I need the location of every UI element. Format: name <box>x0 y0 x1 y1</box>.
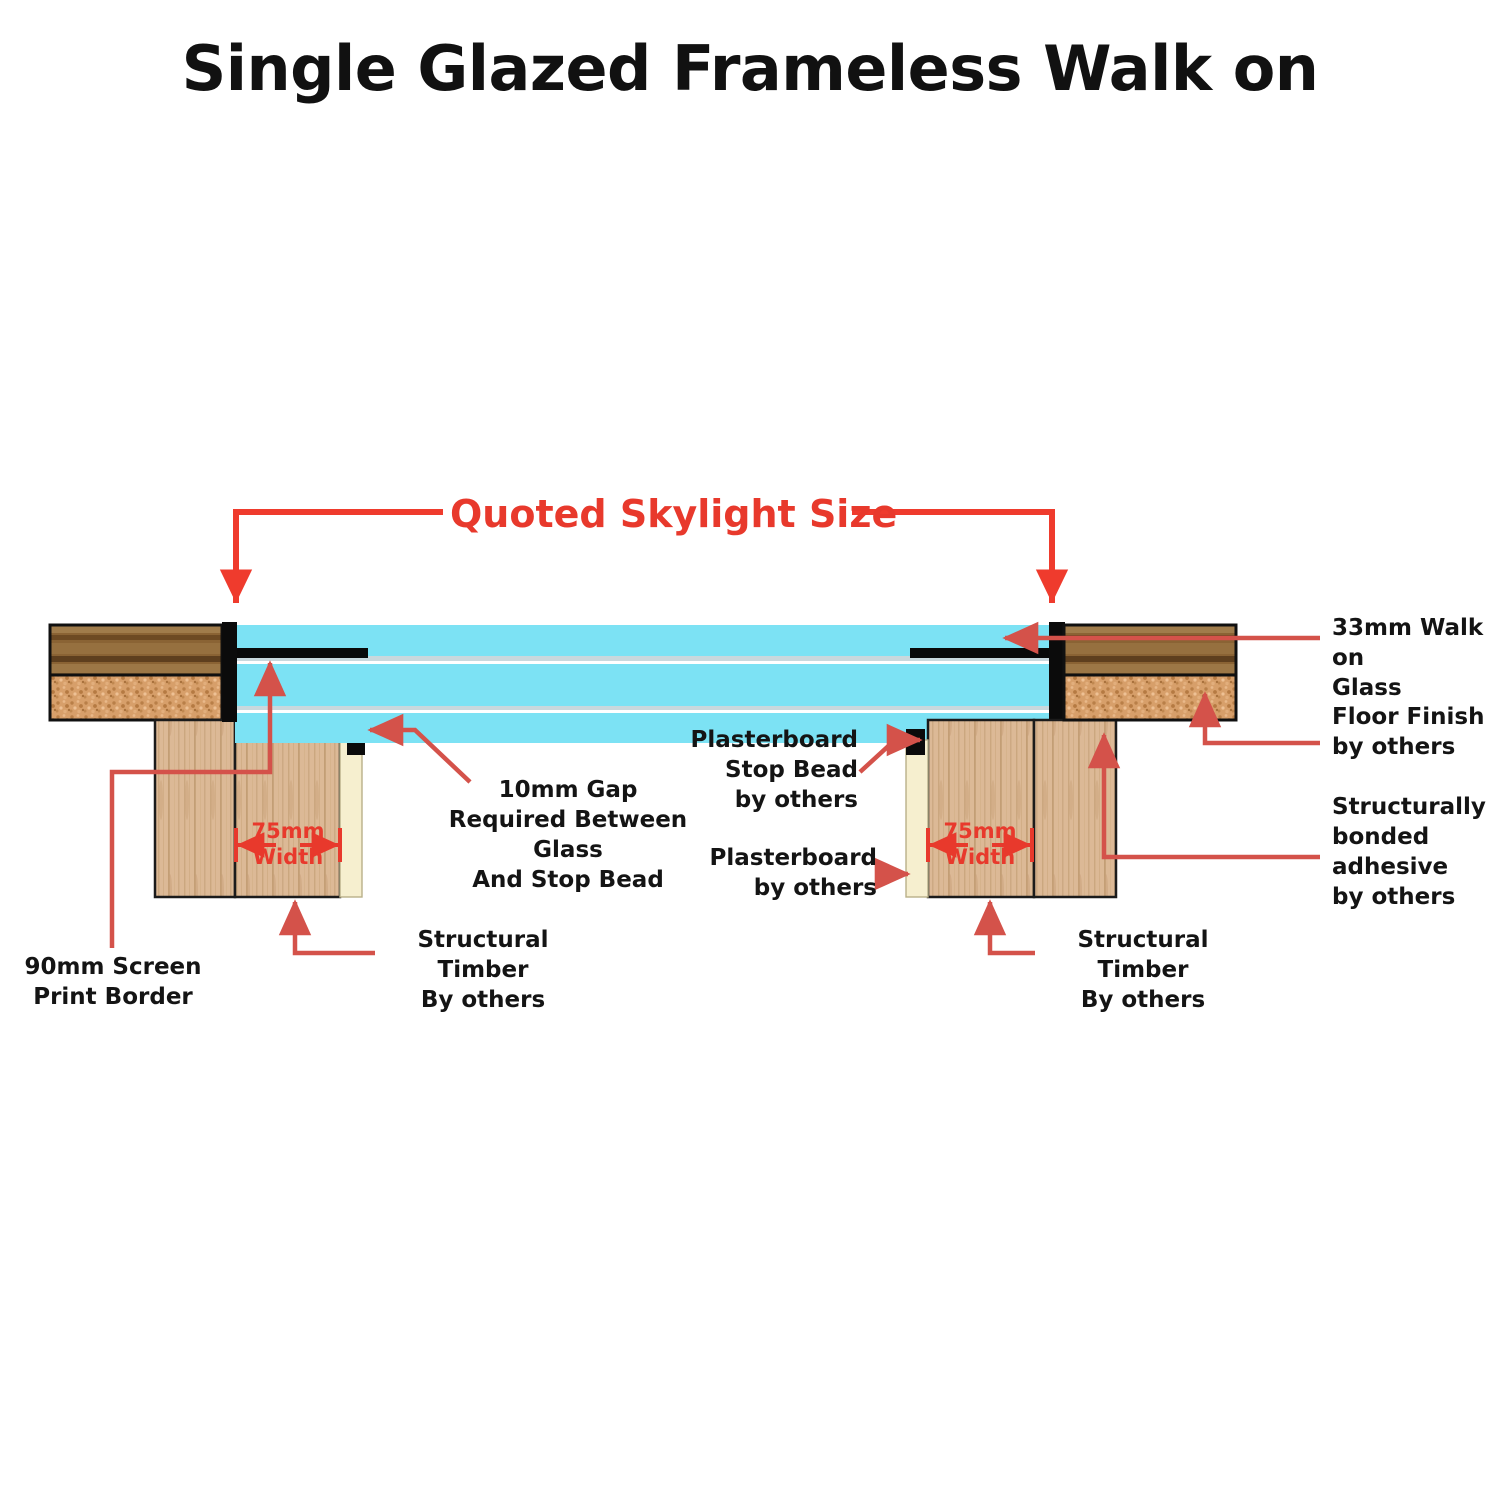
label-plasterboard: Plasterboard by others <box>640 843 877 903</box>
glass-interlayer-upper-white <box>235 661 1059 664</box>
glass-interlayer-lower <box>235 706 1059 710</box>
floor-substrate-left <box>50 675 222 720</box>
label-90mm-screen-print-border: 90mm Screen Print Border <box>22 952 204 1012</box>
glass-interlayer-lower-white <box>235 710 1059 713</box>
label-structural-timber-left: Structural Timber By others <box>378 925 588 1015</box>
label-plasterboard-stop-bead: Plasterboard Stop Bead by others <box>640 725 858 815</box>
leader-bonded-adhesive <box>1104 735 1320 857</box>
left-floor-assembly <box>50 625 222 720</box>
bonded-adhesive-left <box>222 622 237 722</box>
structural-timber-left-outer <box>155 720 235 897</box>
plasterboard-right <box>906 740 928 897</box>
screen-print-border-left <box>235 648 368 658</box>
leader-structural-timber-right <box>990 902 1035 953</box>
structural-timber-right-inner <box>928 720 1034 897</box>
floor-finish-right <box>1064 625 1236 675</box>
floor-substrate-right <box>1064 675 1236 720</box>
dimension-label-75mm-right: 75mm Width <box>932 818 1028 870</box>
structural-timber-left-inner <box>235 720 340 897</box>
glass-ply-middle <box>235 664 1059 706</box>
floor-finish-left <box>50 625 222 675</box>
label-33mm-walk-on-glass: 33mm Walk on Glass <box>1332 613 1500 703</box>
leader-structural-timber-left <box>295 902 375 953</box>
label-structurally-bonded-adhesive: Structurally bonded adhesive by others <box>1332 792 1500 912</box>
dimension-label-75mm-left: 75mm Width <box>240 818 336 870</box>
plasterboard-left <box>340 740 362 897</box>
quoted-skylight-size-label: Quoted Skylight Size <box>450 492 897 536</box>
diagram-canvas: Single Glazed Frameless Walk on <box>0 0 1500 1500</box>
label-floor-finish: Floor Finish by others <box>1332 702 1500 762</box>
left-timber-assembly <box>155 720 365 897</box>
screen-print-border-right <box>910 648 1050 658</box>
right-timber-assembly <box>906 720 1116 897</box>
label-structural-timber-right: Structural Timber By others <box>1038 925 1248 1015</box>
